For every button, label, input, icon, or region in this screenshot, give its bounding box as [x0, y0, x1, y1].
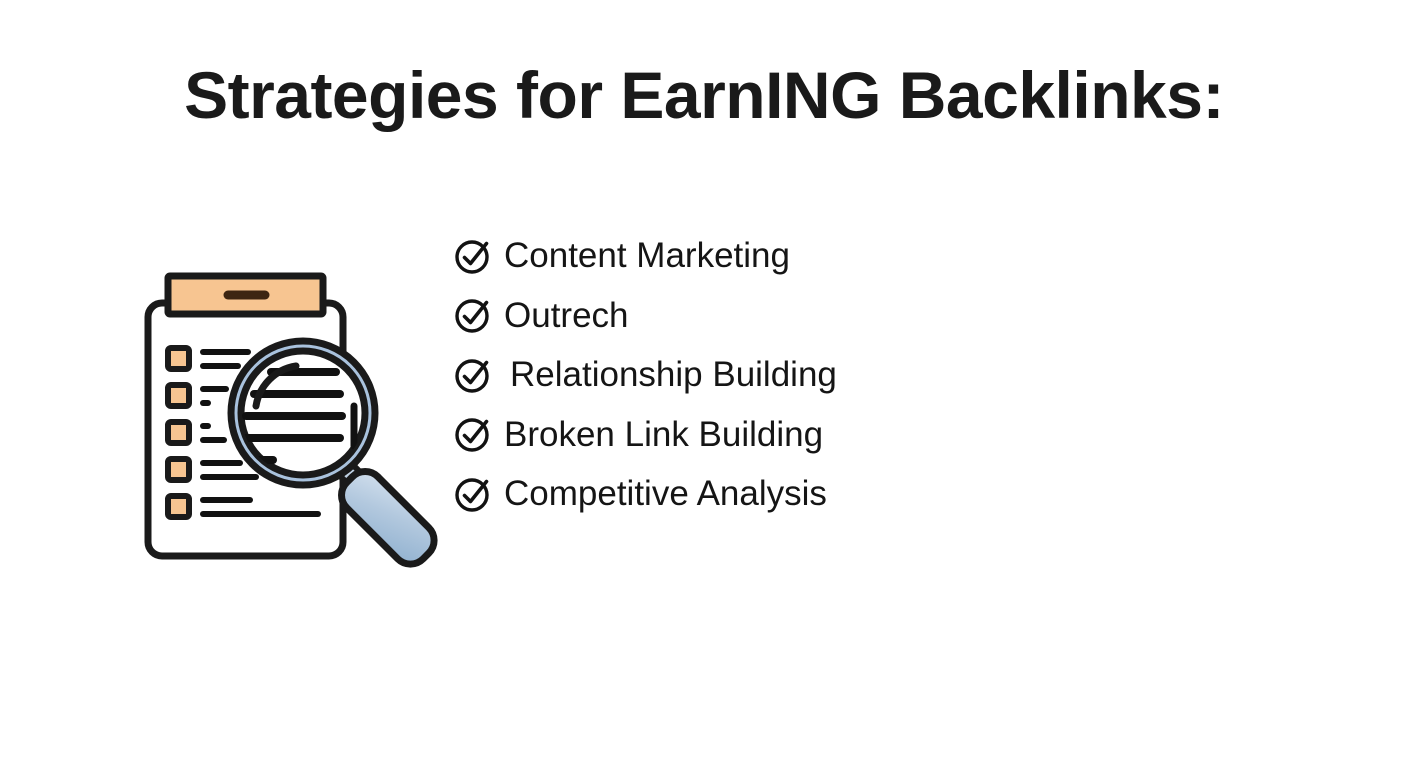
check-circle-icon [452, 473, 494, 515]
page-title: Strategies for EarnING Backlinks: [0, 62, 1408, 128]
list-item: Content Marketing [452, 226, 1152, 286]
list-item: Outrech [452, 286, 1152, 346]
list-item: Competitive Analysis [452, 464, 1152, 524]
check-circle-icon [452, 294, 494, 336]
magnifier-lens [231, 341, 375, 485]
clipboard-magnifier-illustration [128, 258, 448, 578]
list-item-label: Broken Link Building [504, 417, 823, 452]
strategies-checklist: Content Marketing Outrech Relationship B… [452, 226, 1152, 524]
list-item-label: Competitive Analysis [504, 476, 827, 511]
slide-canvas: Strategies for EarnING Backlinks: [0, 0, 1408, 768]
list-item-label: Outrech [504, 298, 629, 333]
clipboard-clip [168, 276, 323, 314]
check-circle-icon [452, 235, 494, 277]
list-item-label: Relationship Building [510, 357, 837, 392]
list-item: Broken Link Building [452, 405, 1152, 465]
check-circle-icon [452, 413, 494, 455]
magnifier-handle [332, 456, 442, 572]
list-item-label: Content Marketing [504, 238, 790, 273]
check-circle-icon [452, 354, 494, 396]
list-item: Relationship Building [452, 345, 1152, 405]
